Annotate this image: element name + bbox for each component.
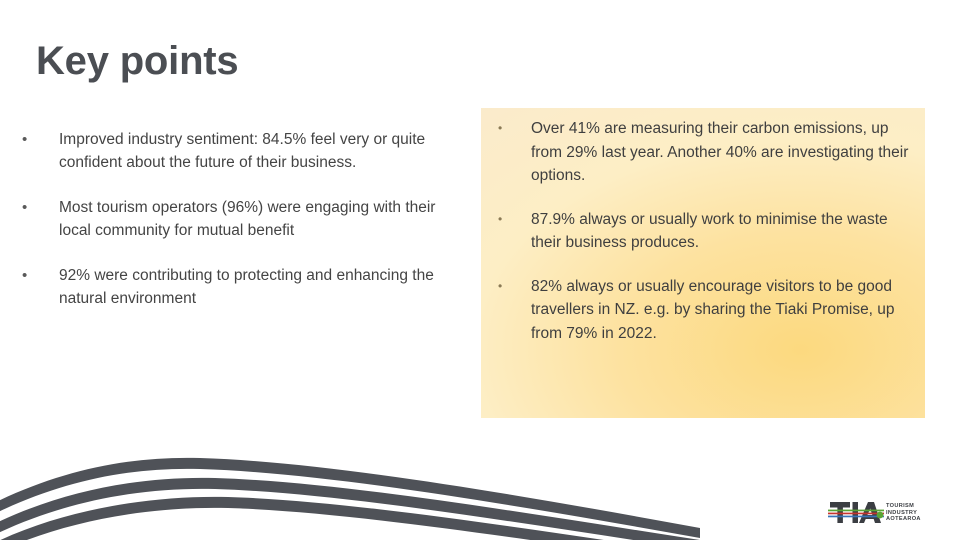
logo-line-1: TOURISM bbox=[886, 503, 921, 510]
wave-decoration-icon bbox=[0, 450, 720, 540]
right-bullet-list: • Over 41% are measuring their carbon em… bbox=[495, 117, 911, 345]
list-item-text: Improved industry sentiment: 84.5% feel … bbox=[59, 128, 463, 174]
bullet-point-icon: • bbox=[495, 275, 531, 298]
bullet-point-icon: • bbox=[18, 128, 59, 151]
bullet-point-icon: • bbox=[495, 208, 531, 231]
tia-logo: TOURISM INDUSTRY AOTEAROA bbox=[828, 496, 932, 530]
list-item: • Over 41% are measuring their carbon em… bbox=[495, 117, 911, 188]
list-item: • 92% were contributing to protecting an… bbox=[18, 264, 463, 310]
bullet-point-icon: • bbox=[18, 264, 59, 287]
list-item-text: Most tourism operators (96%) were engagi… bbox=[59, 196, 463, 242]
left-bullet-list: • Improved industry sentiment: 84.5% fee… bbox=[18, 128, 463, 310]
list-item: • Improved industry sentiment: 84.5% fee… bbox=[18, 128, 463, 174]
list-item-text: 82% always or usually encourage visitors… bbox=[531, 275, 911, 346]
logo-wordmark: TOURISM INDUSTRY AOTEAROA bbox=[886, 503, 921, 523]
slide-canvas: Key points • Improved industry sentiment… bbox=[0, 0, 960, 540]
list-item: • Most tourism operators (96%) were enga… bbox=[18, 196, 463, 242]
list-item: • 87.9% always or usually work to minimi… bbox=[495, 208, 911, 255]
bullet-point-icon: • bbox=[18, 196, 59, 219]
list-item-text: 92% were contributing to protecting and … bbox=[59, 264, 463, 310]
page-title: Key points bbox=[36, 38, 238, 84]
bullet-point-icon: • bbox=[495, 117, 531, 140]
logo-line-3: AOTEAROA bbox=[886, 516, 921, 523]
list-item-text: Over 41% are measuring their carbon emis… bbox=[531, 117, 911, 188]
highlight-panel: • Over 41% are measuring their carbon em… bbox=[481, 108, 925, 418]
list-item-text: 87.9% always or usually work to minimise… bbox=[531, 208, 911, 255]
logo-line-2: INDUSTRY bbox=[886, 510, 921, 517]
tia-monogram-icon bbox=[828, 496, 884, 528]
list-item: • 82% always or usually encourage visito… bbox=[495, 275, 911, 346]
